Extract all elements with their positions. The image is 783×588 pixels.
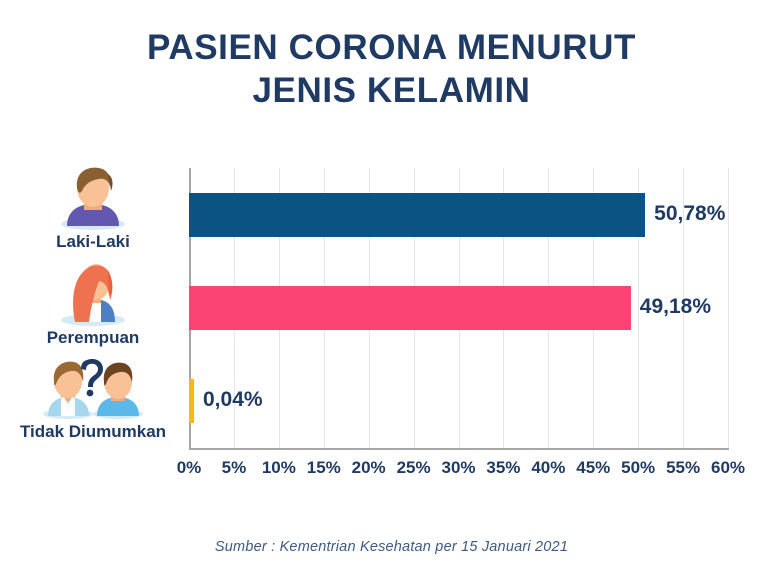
x-axis-line bbox=[189, 448, 729, 450]
x-tick-label: 20% bbox=[352, 458, 386, 478]
x-tick-label: 10% bbox=[262, 458, 296, 478]
x-tick-label: 50% bbox=[621, 458, 655, 478]
bar-value-label: 49,18% bbox=[640, 295, 711, 319]
bar-perempuan bbox=[189, 286, 631, 330]
category-axis: Laki-Laki Perempuan bbox=[0, 160, 186, 450]
gridline bbox=[728, 168, 729, 448]
x-tick-label: 55% bbox=[666, 458, 700, 478]
x-tick-label: 40% bbox=[531, 458, 565, 478]
male-avatar-icon bbox=[0, 164, 186, 230]
x-tick-label: 35% bbox=[486, 458, 520, 478]
bar-chart: 50,78%49,18%0,04% 0%5%10%15%20%25%30%35%… bbox=[0, 0, 783, 588]
x-tick-label: 5% bbox=[222, 458, 247, 478]
x-tick-label: 25% bbox=[397, 458, 431, 478]
x-tick-label: 15% bbox=[307, 458, 341, 478]
x-tick-label: 45% bbox=[576, 458, 610, 478]
category-tidak-diumumkan: Tidak Diumumkan bbox=[0, 356, 186, 442]
female-avatar-icon bbox=[0, 256, 186, 326]
category-label-tidak-diumumkan: Tidak Diumumkan bbox=[0, 422, 186, 442]
bar-tidak-diumumkan bbox=[189, 379, 194, 423]
source-note: Sumber : Kementrian Kesehatan per 15 Jan… bbox=[0, 539, 783, 555]
x-tick-label: 60% bbox=[711, 458, 745, 478]
category-label-laki-laki: Laki-Laki bbox=[0, 232, 186, 252]
category-laki-laki: Laki-Laki bbox=[0, 164, 186, 252]
bar-value-label: 0,04% bbox=[203, 388, 263, 412]
x-axis-tick-labels: 0%5%10%15%20%25%30%35%40%45%50%55%60% bbox=[189, 458, 728, 484]
category-label-perempuan: Perempuan bbox=[0, 328, 186, 348]
bar-laki-laki bbox=[189, 193, 645, 237]
category-perempuan: Perempuan bbox=[0, 256, 186, 348]
unknown-gender-avatar-icon bbox=[0, 356, 186, 420]
x-tick-label: 30% bbox=[441, 458, 475, 478]
bar-value-label: 50,78% bbox=[654, 202, 725, 226]
x-tick-label: 0% bbox=[177, 458, 202, 478]
